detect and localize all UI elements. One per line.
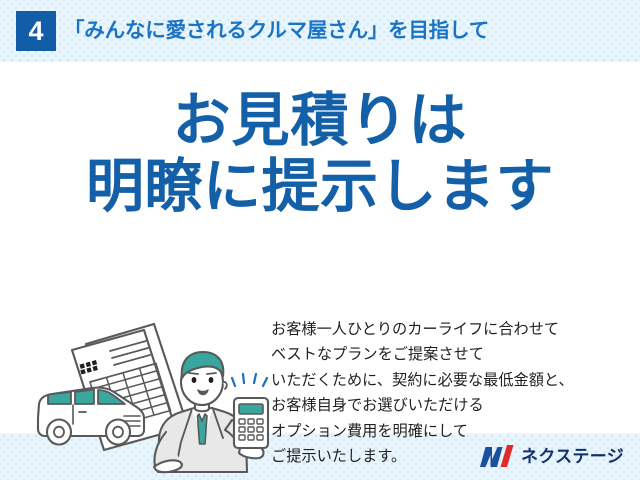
content-panel: お見積りは 明瞭に提示します — [0, 62, 640, 433]
body-copy-line: お客様自身でお選びいただける — [271, 393, 631, 418]
logo-text: ネクステージ — [521, 445, 624, 468]
body-copy-line: お客様一人ひとりのカーライフに合わせて — [271, 317, 631, 342]
headline-line-2: 明瞭に提示します — [0, 154, 640, 220]
nextstage-n-mark — [480, 445, 514, 468]
header: 4 「みんなに愛されるクルマ屋さん」を目指して — [0, 0, 640, 62]
nextstage-logo: ネクステージ — [480, 444, 624, 468]
headline-line-1: お見積りは — [0, 88, 640, 154]
sparkle-lines — [232, 374, 267, 386]
headline: お見積りは 明瞭に提示します — [0, 88, 640, 220]
body-copy-line: いただくために、契約に必要な最低金額と、 — [271, 368, 631, 393]
footer: ネクステージ — [0, 433, 640, 480]
body-copy-line: ベストなプランをご提案させて — [271, 342, 631, 367]
section-number-badge: 4 — [16, 11, 56, 51]
header-title: 「みんなに愛されるクルマ屋さん」を目指して — [64, 14, 489, 48]
promo-slide: 4 「みんなに愛されるクルマ屋さん」を目指して お見積りは 明瞭に提示します — [0, 0, 640, 480]
